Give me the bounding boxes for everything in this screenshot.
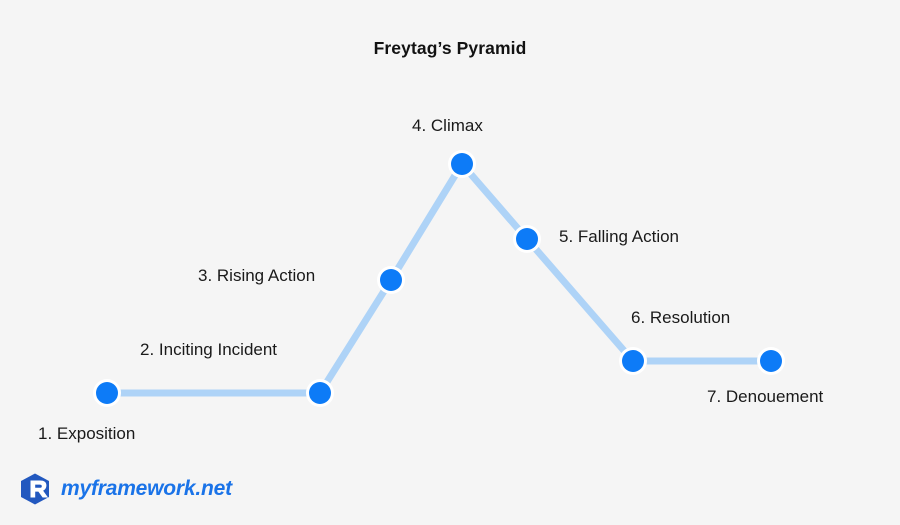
node-marker[interactable] bbox=[380, 269, 402, 291]
connector-segment bbox=[527, 239, 633, 361]
brand-wordmark: myframework.net bbox=[61, 477, 232, 501]
node-label: 5. Falling Action bbox=[559, 227, 679, 247]
node-label: 2. Inciting Incident bbox=[140, 340, 277, 360]
node-marker[interactable] bbox=[96, 382, 118, 404]
node-label: 7. Denouement bbox=[707, 387, 823, 407]
node-marker[interactable] bbox=[451, 153, 473, 175]
node-label: 4. Climax bbox=[412, 116, 483, 136]
hexagon-cube-logo-icon bbox=[18, 472, 52, 506]
node-marker[interactable] bbox=[760, 350, 782, 372]
node-marker[interactable] bbox=[309, 382, 331, 404]
connector-segment bbox=[320, 280, 391, 393]
node-label: 6. Resolution bbox=[631, 308, 730, 328]
diagram-canvas: Freytag’s Pyramid 1. Exposition2. Inciti… bbox=[0, 0, 900, 525]
node-marker[interactable] bbox=[622, 350, 644, 372]
node-label: 3. Rising Action bbox=[198, 266, 315, 286]
connector-segment bbox=[462, 164, 527, 239]
node-marker[interactable] bbox=[516, 228, 538, 250]
node-label: 1. Exposition bbox=[38, 424, 135, 444]
footer-brand[interactable]: myframework.net bbox=[18, 472, 232, 506]
connector-segment bbox=[391, 164, 462, 280]
freytag-pyramid-plot bbox=[0, 0, 900, 525]
node-markers bbox=[93, 150, 785, 407]
